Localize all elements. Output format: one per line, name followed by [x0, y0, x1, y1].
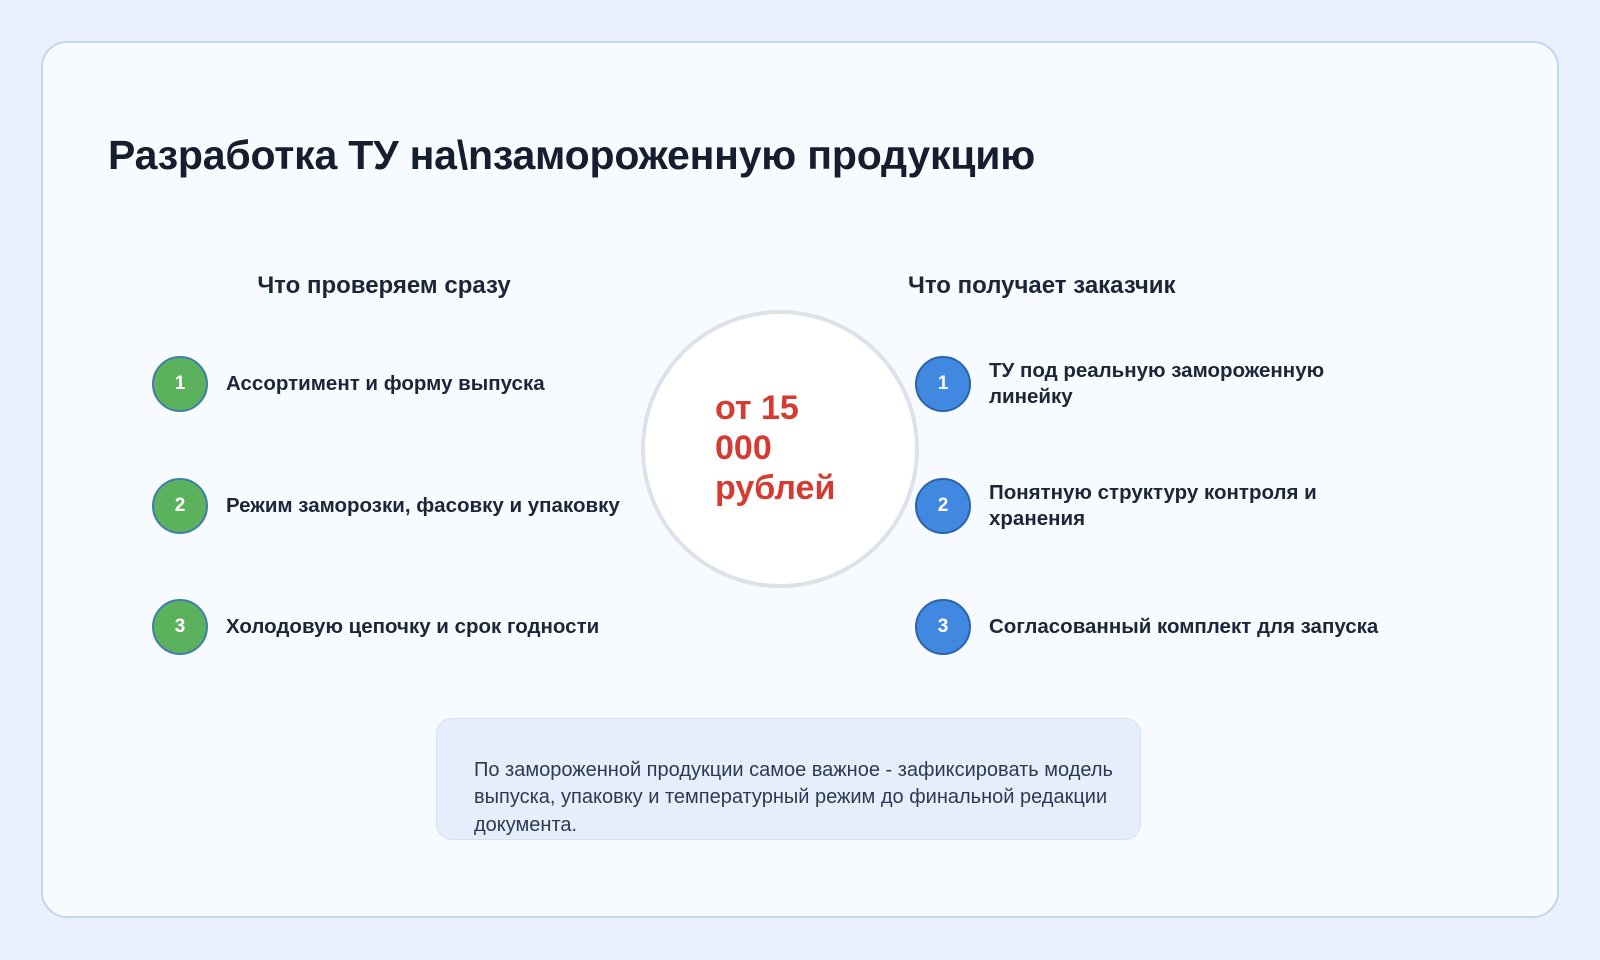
page-title: Разработка ТУ на\nзамороженную продукцию — [108, 130, 1108, 182]
step-number-badge: 2 — [152, 478, 208, 534]
note-text: По замороженной продукции самое важное -… — [474, 757, 1114, 839]
step-number-badge: 1 — [152, 356, 208, 412]
list-item-label: Холодовую цепочку и срок годности — [226, 614, 599, 640]
list-item-label: ТУ под реальную замороженную линейку — [989, 358, 1385, 410]
list-item[interactable]: 1 Ассортимент и форму выпуска — [152, 356, 672, 412]
list-item-label: Ассортимент и форму выпуска — [226, 371, 545, 397]
list-item[interactable]: 3 Холодовую цепочку и срок годности — [152, 599, 672, 655]
column-left: Что проверяем сразу 1 Ассортимент и форм… — [108, 272, 668, 318]
price-label: от 15 000 рублей — [715, 389, 845, 508]
step-number-badge: 3 — [152, 599, 208, 655]
list-item-label: Режим заморозки, фасовку и упаковку — [226, 493, 620, 519]
column-left-heading: Что проверяем сразу — [108, 272, 668, 300]
column-right: Что получает заказчик 1 ТУ под реальную … — [908, 272, 1378, 318]
infographic-stage: Разработка ТУ на\nзамороженную продукцию… — [0, 0, 1600, 960]
list-item[interactable]: 1 ТУ под реальную замороженную линейку — [915, 356, 1385, 412]
list-item[interactable]: 3 Согласованный комплект для запуска — [915, 599, 1385, 655]
step-number-badge: 2 — [915, 478, 971, 534]
list-item[interactable]: 2 Режим заморозки, фасовку и упаковку — [152, 478, 672, 534]
price-circle: от 15 000 рублей — [641, 310, 919, 588]
column-right-heading: Что получает заказчик — [908, 272, 1378, 300]
step-number-badge: 1 — [915, 356, 971, 412]
list-item-label: Согласованный комплект для запуска — [989, 614, 1378, 640]
list-item-label: Понятную структуру контроля и хранения — [989, 480, 1385, 532]
list-item[interactable]: 2 Понятную структуру контроля и хранения — [915, 478, 1385, 534]
step-number-badge: 3 — [915, 599, 971, 655]
